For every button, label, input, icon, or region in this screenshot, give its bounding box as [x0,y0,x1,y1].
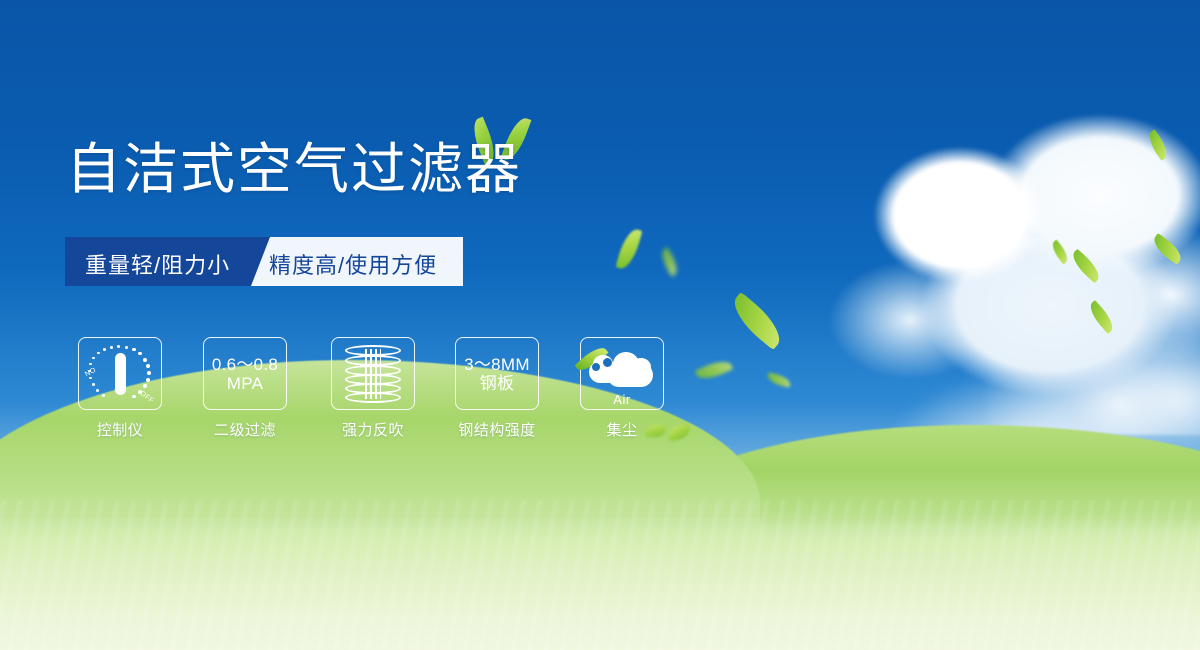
air-cloud-icon: Air [587,345,657,403]
filter-stack-icon [345,345,401,403]
leaf-icon-float-3 [726,292,789,350]
subtitle-right-text: 精度高/使用方便 [269,248,437,280]
dial-label-no: NO [84,366,97,378]
subtitle-left-text: 重量轻/阻力小 [85,248,230,280]
leaf-icon-float-7 [1049,239,1072,264]
feature-icon-box: NO OFF [78,337,162,410]
feature-label: 钢结构强度 [455,419,539,440]
feature-label: 二级过滤 [203,419,287,440]
steel-plate-text-icon: 3～8MM 钢板 [464,355,530,393]
leaf-icon-float-1 [616,227,643,272]
leaf-icon-float-11 [1085,300,1117,334]
air-label: Air [587,392,657,407]
feature-icon-box: 3～8MM 钢板 [455,337,539,410]
leaf-icon-float-8 [1149,233,1185,265]
leaf-icon-float-5 [766,372,792,388]
feature-item-pressure[interactable]: 0.6～0.8 MPA 二级过滤 [203,337,287,440]
feature-label: 强力反吹 [331,419,415,440]
feature-item-steel[interactable]: 3～8MM 钢板 钢结构强度 [455,337,539,440]
feature-icon-box: 0.6～0.8 MPA [203,337,287,410]
dial-needle [115,353,126,395]
pressure-text-icon: 0.6～0.8 MPA [212,355,278,393]
feature-label: 集尘 [580,419,664,440]
feature-icon-box: Air [580,337,664,410]
page-title: 自洁式空气过滤器 [66,142,522,197]
dial-label-off: OFF [138,390,155,405]
feature-item-dust[interactable]: Air 集尘 [580,337,664,440]
product-hero-banner: 自洁式空气过滤器 重量轻/阻力小 精度高/使用方便 [0,0,1200,650]
feature-icon-box [331,337,415,410]
feature-label: 控制仪 [78,419,162,440]
grass-texture [0,500,1200,650]
leaf-icon-float-9 [1068,249,1104,283]
subtitle-banner: 重量轻/阻力小 精度高/使用方便 [65,237,463,286]
feature-item-backblow[interactable]: 强力反吹 [331,337,415,440]
leaf-icon-float-4 [695,356,734,383]
control-dial-icon: NO OFF [87,345,153,403]
leaf-icon-float-2 [658,247,682,277]
feature-item-control[interactable]: NO OFF 控制仪 [78,337,162,440]
leaf-icon-float-10 [1145,129,1172,161]
